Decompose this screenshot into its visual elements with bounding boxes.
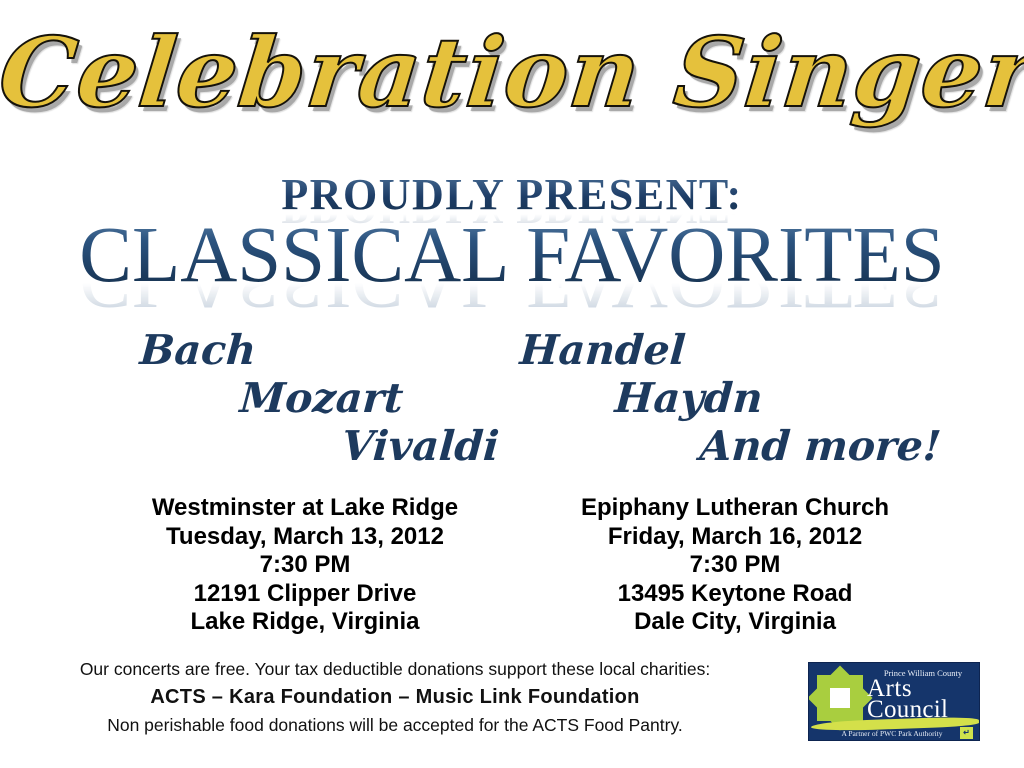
venue-name: Westminster at Lake Ridge	[95, 494, 515, 523]
concert-poster: Celebration Singers PROUDLY PRESENT: PRO…	[0, 0, 1024, 768]
food-pantry-note: Non perishable food donations will be ac…	[0, 713, 790, 738]
venue-city: Dale City, Virginia	[525, 608, 945, 637]
masthead: Celebration Singers	[0, 8, 1024, 158]
ensemble-name: Celebration Singers	[0, 8, 1024, 138]
star-center-square	[830, 688, 850, 708]
composer-name: Bach	[138, 328, 257, 372]
logo-partner-text: A Partner of PWC Park Authority	[831, 729, 953, 738]
venue-street: 13495 Keytone Road	[525, 580, 945, 609]
composer-column-left: Bach Mozart Vivaldi	[110, 328, 530, 488]
composer-name: And more!	[698, 424, 942, 468]
main-title-block: CLASSICAL FAVORITES CLASSICAL FAVORITES	[0, 216, 1024, 325]
venue-date: Friday, March 16, 2012	[525, 523, 945, 552]
venue-name: Epiphany Lutheran Church	[525, 494, 945, 523]
venue-city: Lake Ridge, Virginia	[95, 608, 515, 637]
venue-time: 7:30 PM	[95, 551, 515, 580]
eight-pointed-star-icon	[817, 675, 863, 721]
main-title-reflection: CLASSICAL FAVORITES	[79, 280, 945, 320]
venue-time: 7:30 PM	[525, 551, 945, 580]
composer-name: Mozart	[238, 376, 404, 420]
venue-block: Westminster at Lake Ridge Tuesday, March…	[95, 494, 515, 637]
donation-note: Our concerts are free. Your tax deductib…	[0, 657, 790, 682]
composer-name: Handel	[518, 328, 687, 372]
performance-details: Westminster at Lake Ridge Tuesday, March…	[0, 494, 1024, 644]
park-authority-icon: ↵	[960, 727, 973, 739]
charity-list: ACTS – Kara Foundation – Music Link Foun…	[0, 682, 790, 713]
venue-street: 12191 Clipper Drive	[95, 580, 515, 609]
charity-footer: Our concerts are free. Your tax deductib…	[0, 657, 790, 738]
composer-name: Vivaldi	[340, 424, 500, 468]
venue-date: Tuesday, March 13, 2012	[95, 523, 515, 552]
composer-name: Haydn	[613, 376, 764, 420]
composer-list: Bach Mozart Vivaldi Handel Haydn And mor…	[0, 328, 1024, 488]
arts-council-logo: Prince William County Arts Council A Par…	[808, 662, 980, 741]
composer-column-right: Handel Haydn And more!	[510, 328, 930, 488]
venue-block: Epiphany Lutheran Church Friday, March 1…	[525, 494, 945, 637]
